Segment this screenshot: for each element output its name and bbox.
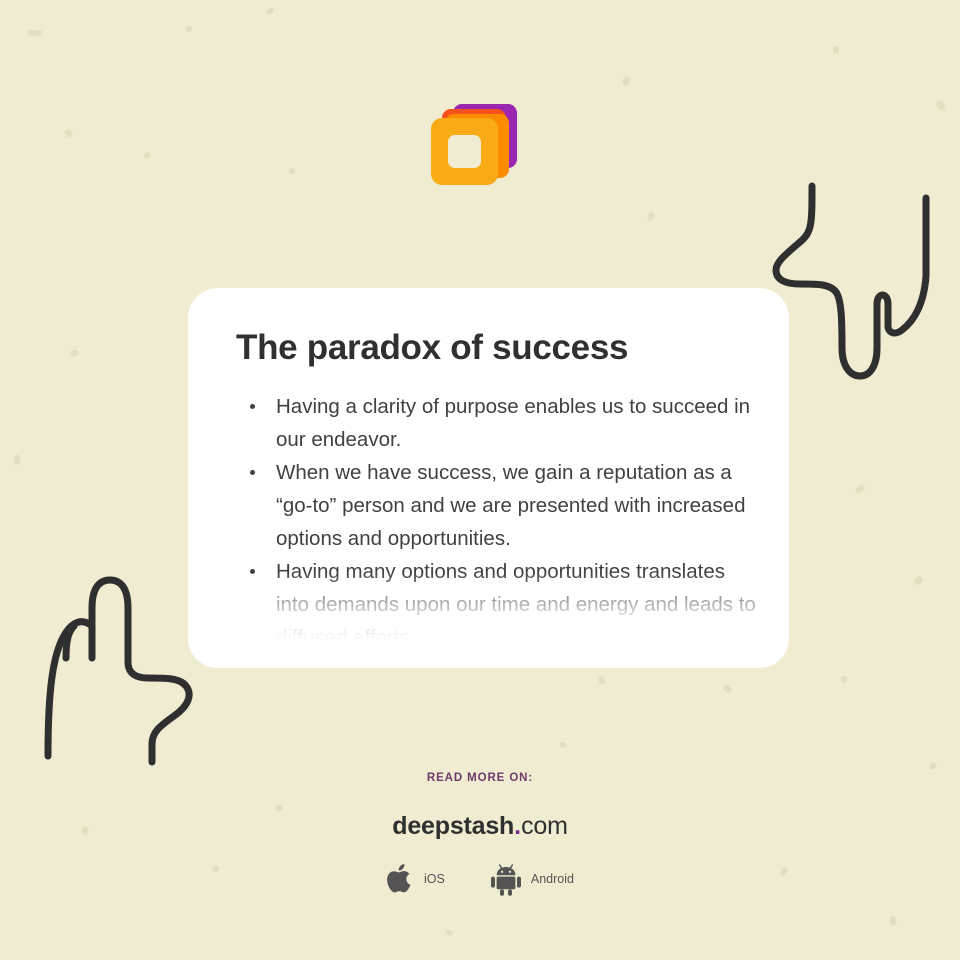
confetti-dash [143,151,151,160]
android-store-badge[interactable]: Android [489,862,574,896]
android-icon [489,862,523,896]
confetti-dash [69,349,80,358]
list-item: Having a clarity of purpose enables us t… [250,390,760,456]
confetti-dash [832,45,840,54]
confetti-dash [63,128,74,138]
confetti-dash [13,455,21,466]
confetti-dash [444,929,453,937]
page-title: The paradox of success [236,328,789,368]
confetti-dash [722,684,733,694]
deepstash-wordmark[interactable]: deepstash.com [0,812,960,841]
confetti-dash [646,211,656,222]
confetti-dash [889,916,896,927]
confetti-dash [289,168,295,174]
android-label: Android [531,872,574,886]
confetti-dash [928,761,938,771]
logo-layer-front [431,118,498,185]
confetti-dash [913,575,923,586]
confetti-dash [560,742,566,748]
wordmark-tld: com [521,812,568,840]
idea-bullet-list: Having a clarity of purpose enables us t… [250,390,760,654]
read-more-label: READ MORE ON: [0,772,960,784]
confetti-dash [265,7,274,15]
deepstash-share-card: The paradox of success Having a clarity … [0,0,960,960]
confetti-dash [185,25,193,33]
ios-label: iOS [424,872,445,886]
idea-card: The paradox of success Having a clarity … [188,288,789,668]
confetti-dash [621,75,632,87]
confetti-dash [28,30,42,37]
confetti-dash [598,675,606,685]
confetti-dash [854,484,866,495]
list-item: When we have success, we gain a reputati… [250,456,760,555]
confetti-dash [935,99,946,111]
deepstash-logo-icon [431,104,517,196]
confetti-dash [841,676,848,684]
app-store-badges: iOS [0,862,960,896]
wordmark-name: deepstash [392,812,514,840]
pointing-hand-outline-icon [30,566,210,766]
apple-icon [386,862,416,896]
list-item: Having many options and opportunities tr… [250,555,760,654]
ios-store-badge[interactable]: iOS [386,862,445,896]
